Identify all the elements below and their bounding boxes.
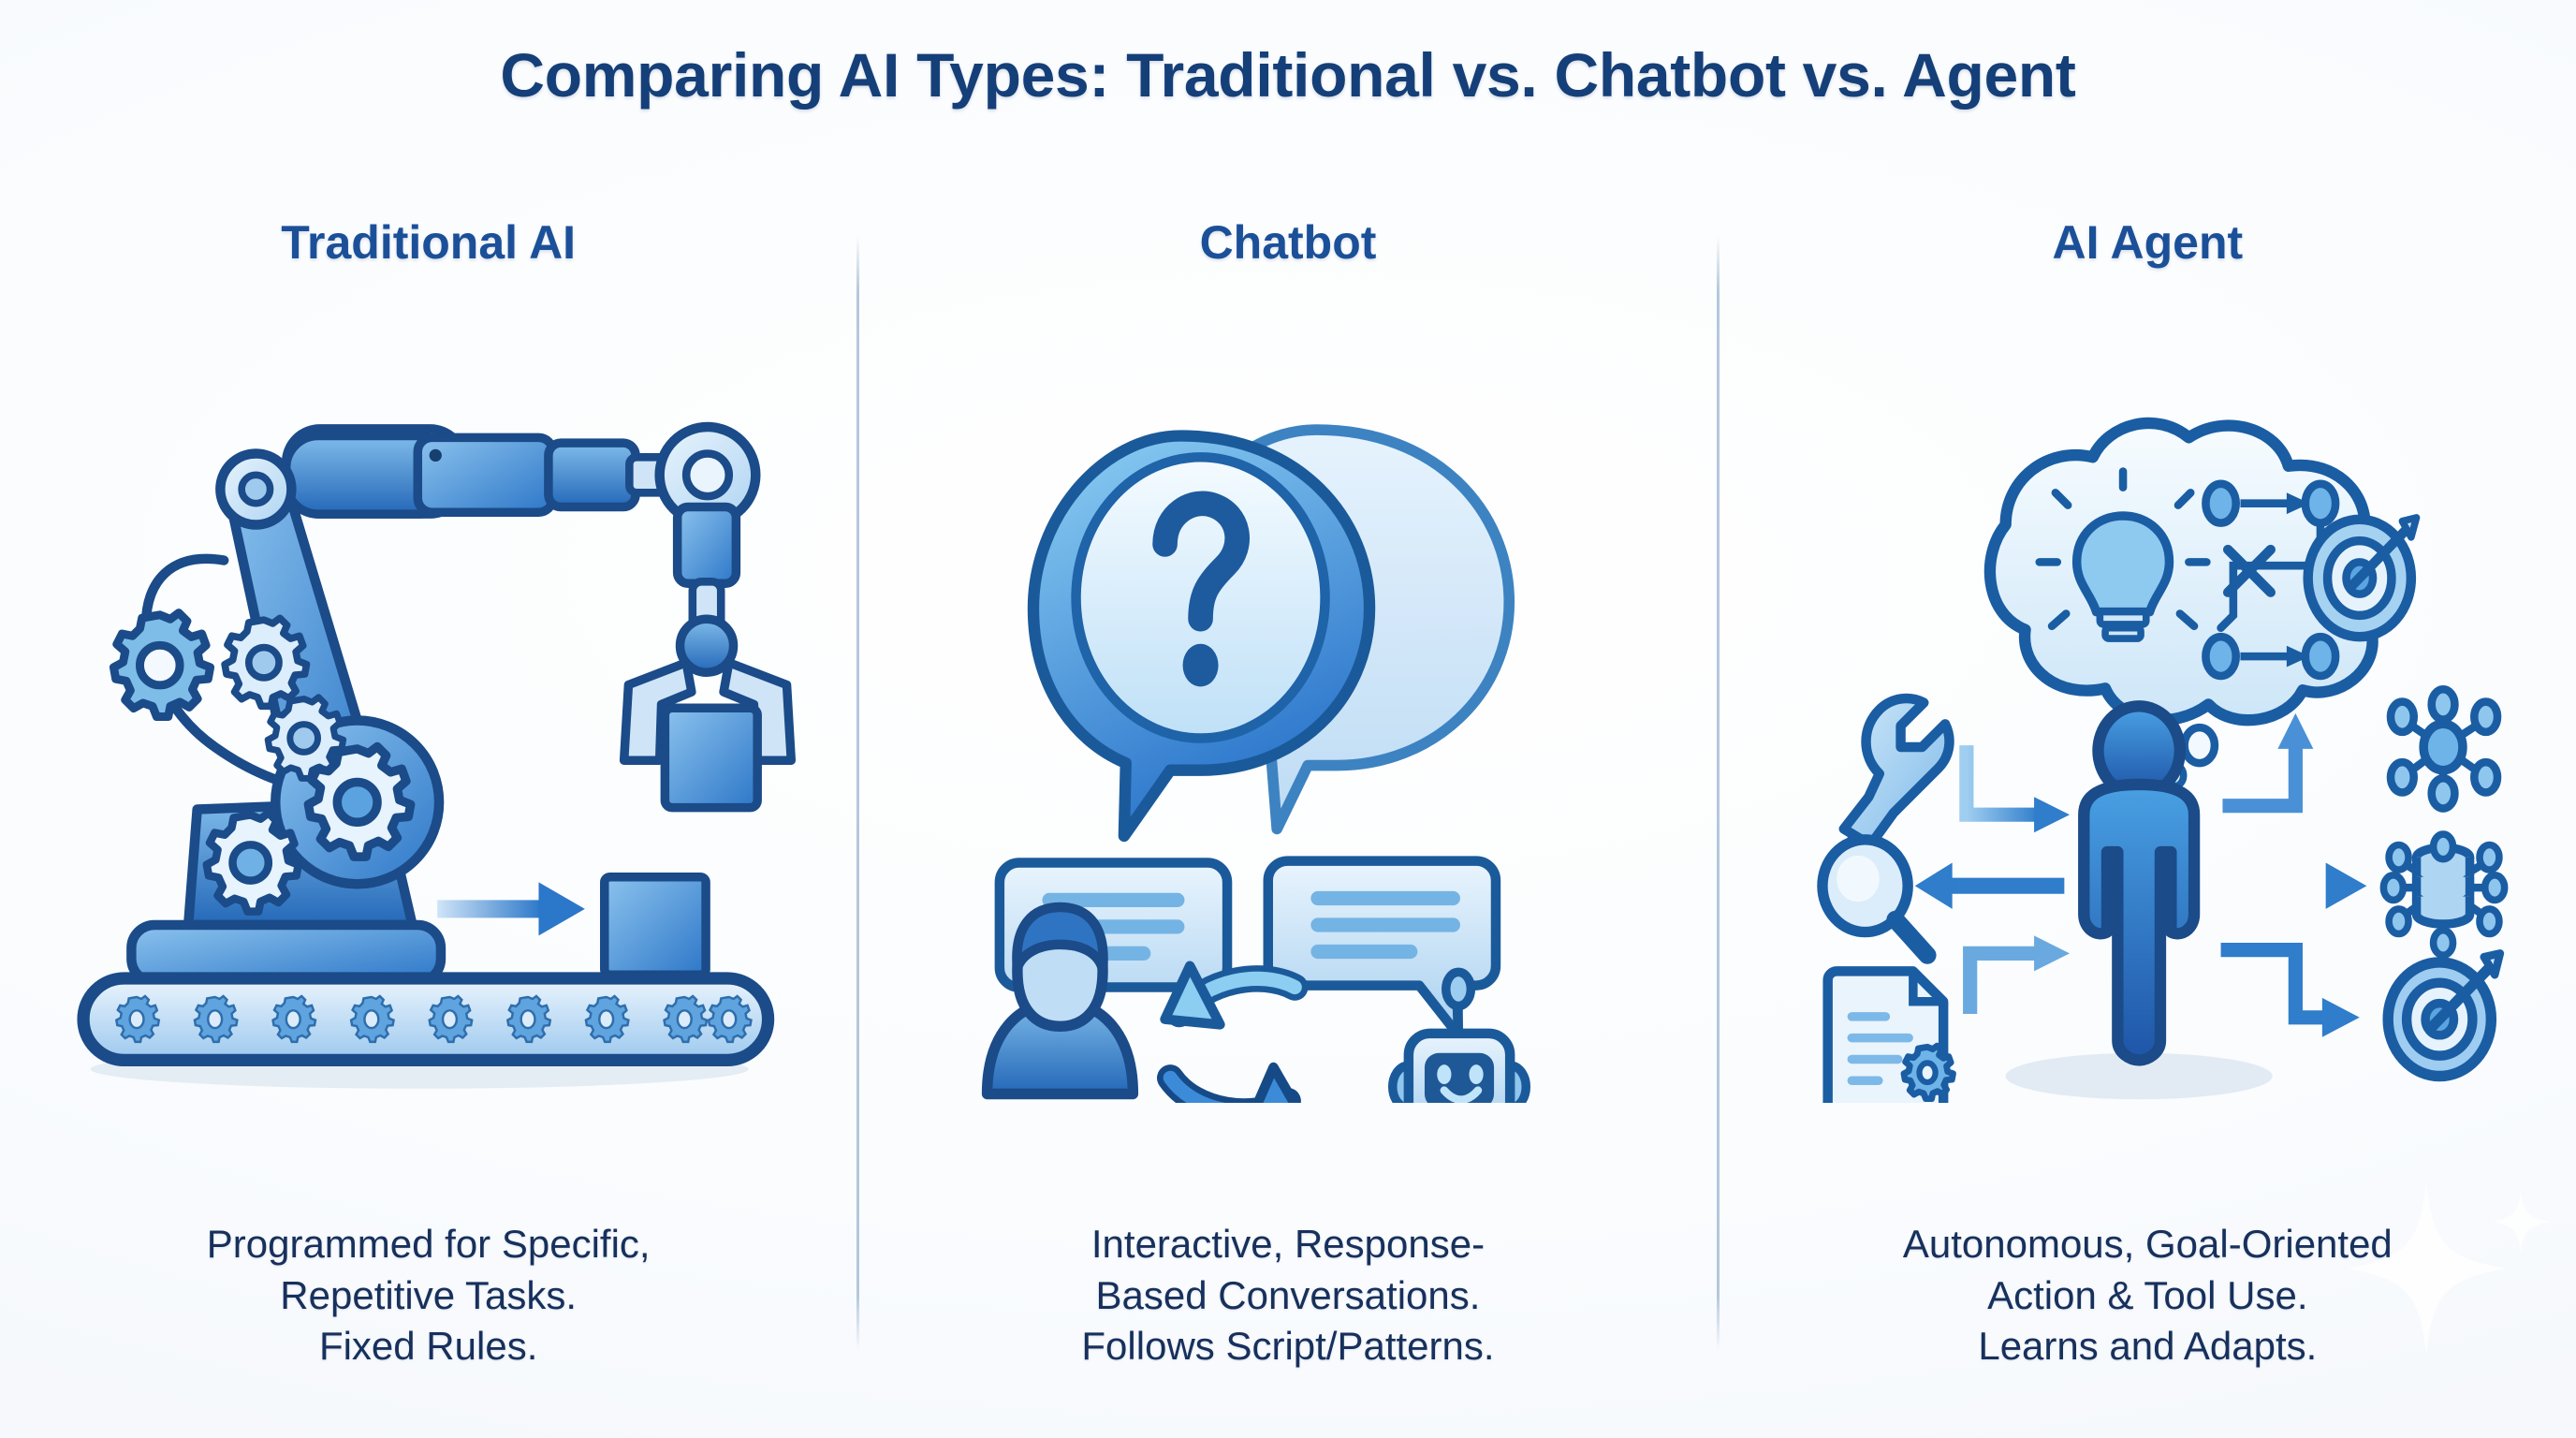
conveyor-belt-icon [83, 978, 768, 1060]
exchange-arrows-icon [1165, 966, 1300, 1103]
thought-cloud-icon [1990, 423, 2417, 720]
illustration-ai-agent [1720, 270, 2576, 1219]
column-caption-chatbot: Interactive, Response- Based Conversatio… [1049, 1219, 1526, 1382]
arrow-right-icon [437, 883, 585, 936]
column-caption-ai-agent: Autonomous, Goal-Oriented Action & Tool … [1871, 1219, 2424, 1382]
box-icon [665, 708, 757, 807]
thought-dot-large [2184, 727, 2214, 763]
column-heading-chatbot: Chatbot [1200, 215, 1377, 270]
robotic-arm-upper [286, 429, 669, 514]
person-agent-icon [2005, 706, 2272, 1099]
illustration-traditional-ai [0, 270, 856, 1219]
document-gear-icon [1827, 972, 1953, 1104]
column-traditional-ai: Traditional AI [0, 197, 856, 1382]
target-cloud-icon [2307, 518, 2416, 637]
column-heading-ai-agent: AI Agent [2052, 215, 2243, 270]
page-title: Comparing AI Types: Traditional vs. Chat… [0, 39, 2576, 110]
wrench-icon [1843, 698, 1949, 844]
output-box-icon [605, 877, 706, 975]
column-caption-traditional-ai: Programmed for Specific, Repetitive Task… [175, 1219, 682, 1382]
robot-icon [1393, 972, 1527, 1103]
speech-bubble-question-icon [1033, 436, 1369, 837]
ai-agent-illustration [1729, 391, 2567, 1103]
magnifier-icon [1822, 840, 1927, 956]
database-icon [2383, 834, 2504, 955]
column-chatbot: Chatbot [859, 197, 1716, 1382]
illustration-chatbot [859, 270, 1716, 1219]
target-icon [2388, 954, 2500, 1077]
robotic-arm-wrist [660, 427, 756, 672]
network-node-icon [2391, 689, 2497, 808]
column-heading-traditional-ai: Traditional AI [281, 215, 576, 270]
robotic-arm-conveyor-illustration [9, 391, 847, 1103]
chatbot-illustration [869, 391, 1706, 1103]
title-bar: Comparing AI Types: Traditional vs. Chat… [0, 39, 2576, 110]
column-ai-agent: AI Agent [1720, 197, 2576, 1382]
comparison-columns: Traditional AI [0, 197, 2576, 1382]
